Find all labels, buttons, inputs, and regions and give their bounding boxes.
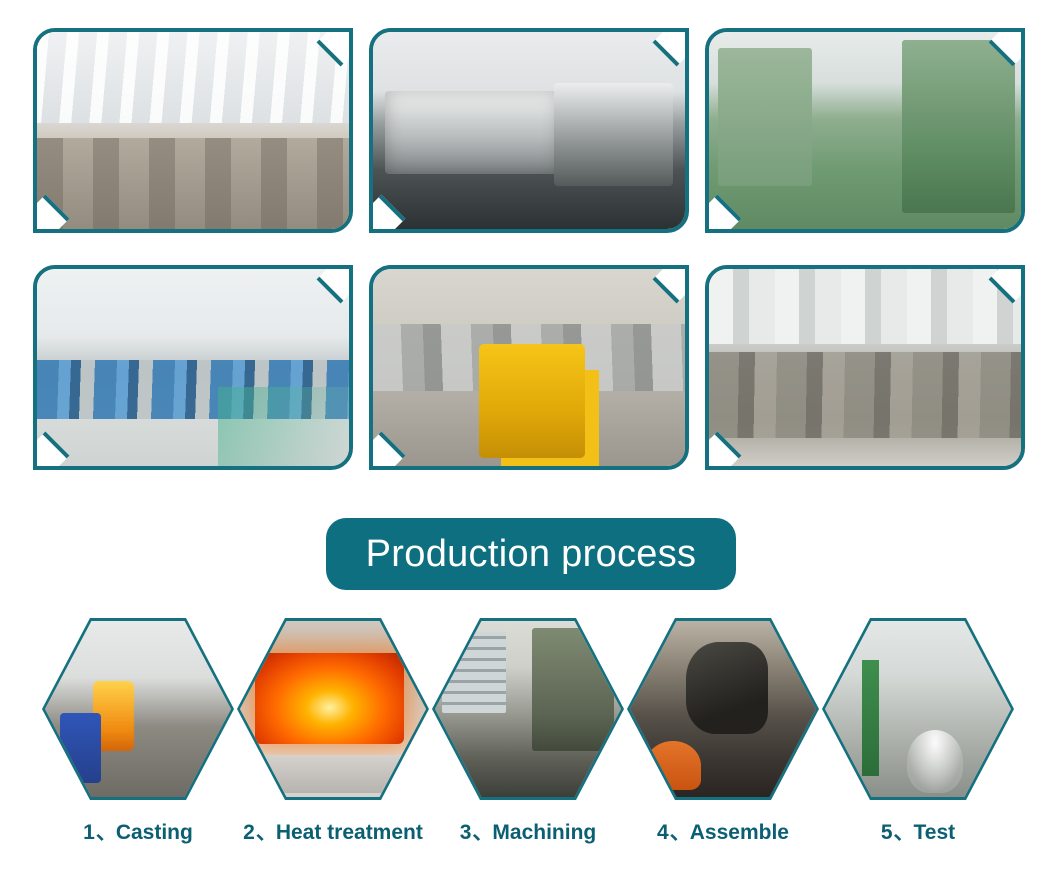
hexagon-frame [237,618,429,800]
photo-image-assembly-bay [373,269,685,466]
step-separator: 、 [256,821,276,844]
step-title: Test [914,821,956,844]
process-step-machining[interactable]: 3、Machining [432,618,624,868]
step-number: 2 [243,821,255,844]
photo-row-1 [0,28,1059,233]
step-number: 1 [83,821,95,844]
photo-row-2 [0,265,1059,470]
step-image-casting [45,621,231,797]
step-separator: 、 [894,821,914,844]
photo-card-assembly-bay[interactable] [369,265,689,470]
step-image-test [825,621,1011,797]
process-step-casting[interactable]: 1、Casting [42,618,234,868]
photo-card-horizontal-lathe[interactable] [369,28,689,233]
step-title: Assemble [690,821,789,844]
step-number: 3 [460,821,472,844]
process-steps: 1、Casting 2、Heat treatment 3、Machining [0,618,1059,868]
step-separator: 、 [472,821,492,844]
step-image-assemble [630,621,816,797]
process-step-test[interactable]: 5、Test [822,618,1014,868]
photo-image-foundry-hall [37,32,349,229]
photo-card-pump-assembly-line[interactable] [33,265,353,470]
step-number: 4 [657,821,669,844]
photo-image-boring-mill [709,32,1021,229]
step-title: Casting [116,821,193,844]
step-title: Heat treatment [276,821,423,844]
page-title: Production process [366,533,697,576]
process-step-heat-treatment[interactable]: 2、Heat treatment [237,618,429,868]
photo-image-casting-warehouse [709,269,1021,466]
hexagon-frame [627,618,819,800]
step-image-machining [435,621,621,797]
step-image-heat-treatment [240,621,426,797]
step-number: 5 [881,821,893,844]
step-title: Machining [492,821,596,844]
step-separator: 、 [96,821,116,844]
process-step-assemble[interactable]: 4、Assemble [627,618,819,868]
photo-card-boring-mill[interactable] [705,28,1025,233]
hexagon-frame [822,618,1014,800]
photo-card-casting-warehouse[interactable] [705,265,1025,470]
step-separator: 、 [670,821,690,844]
step-label-test: 5、Test [802,816,1034,846]
production-process-title-banner: Production process [326,518,736,590]
photo-card-foundry-hall[interactable] [33,28,353,233]
hexagon-frame [432,618,624,800]
hexagon-frame [42,618,234,800]
photo-image-pump-assembly-line [37,269,349,466]
photo-image-horizontal-lathe [373,32,685,229]
